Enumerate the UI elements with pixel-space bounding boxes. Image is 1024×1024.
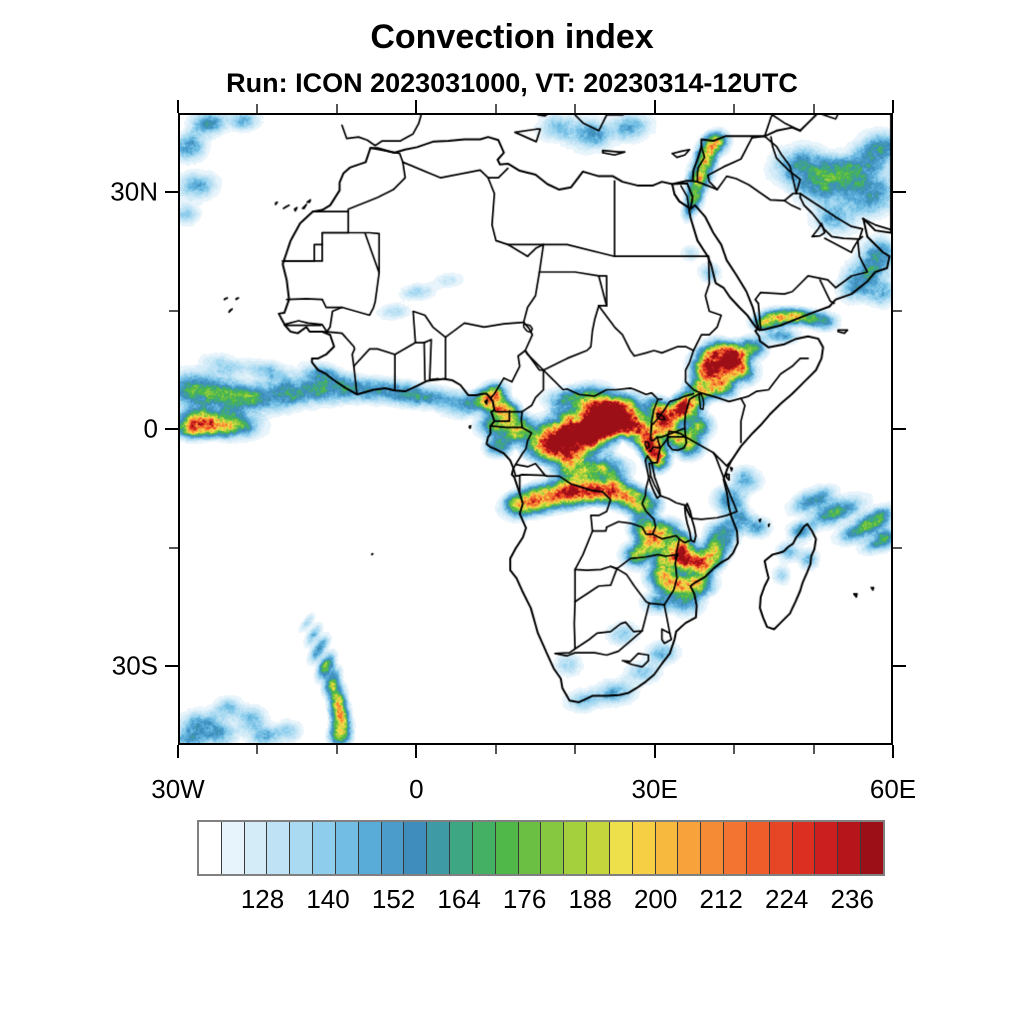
colorbar-cell: [747, 822, 770, 874]
colorbar-tick-label: 176: [503, 884, 546, 915]
x-axis-label: 30E: [632, 774, 678, 805]
convection-index-raster: [180, 115, 891, 743]
y-tick-minor: [893, 310, 902, 312]
colorbar-tick-label: 128: [241, 884, 284, 915]
colorbar-cell: [610, 822, 633, 874]
colorbar-cell: [724, 822, 747, 874]
x-tick-major: [654, 745, 656, 758]
map-plot-area: [178, 113, 893, 745]
colorbar-cell: [815, 822, 838, 874]
colorbar-cell: [793, 822, 816, 874]
colorbar-cell: [222, 822, 245, 874]
colorbar-cell: [770, 822, 793, 874]
colorbar-cell: [450, 822, 473, 874]
x-tick-minor: [256, 104, 258, 113]
x-tick-minor: [495, 745, 497, 754]
colorbar-cell: [245, 822, 268, 874]
colorbar-cell: [313, 822, 336, 874]
x-tick-minor: [813, 104, 815, 113]
colorbar-cell: [564, 822, 587, 874]
x-axis-label: 0: [409, 774, 423, 805]
y-tick-major-right: [893, 191, 906, 193]
y-tick-major: [165, 191, 178, 193]
y-tick-major: [165, 428, 178, 430]
page-title: Convection index: [0, 18, 1024, 57]
colorbar-cell: [701, 822, 724, 874]
colorbar: [197, 820, 885, 876]
colorbar-cell: [359, 822, 382, 874]
y-axis-label: 30S: [60, 651, 158, 682]
colorbar-cell: [633, 822, 656, 874]
colorbar-cell: [541, 822, 564, 874]
colorbar-tick-label: 188: [568, 884, 611, 915]
y-tick-major: [165, 665, 178, 667]
x-tick-minor: [813, 745, 815, 754]
x-tick-minor: [256, 745, 258, 754]
colorbar-cell: [427, 822, 450, 874]
convection-index-figure: Convection index Run: ICON 2023031000, V…: [0, 0, 1024, 1024]
x-tick-minor: [495, 104, 497, 113]
colorbar-cells: [197, 820, 885, 876]
colorbar-tick-label: 152: [372, 884, 415, 915]
colorbar-cell: [496, 822, 519, 874]
y-tick-minor: [169, 310, 178, 312]
x-tick-minor: [733, 104, 735, 113]
colorbar-cell: [838, 822, 861, 874]
colorbar-cell: [587, 822, 610, 874]
colorbar-tick-label: 200: [634, 884, 677, 915]
colorbar-cell: [473, 822, 496, 874]
x-tick-minor: [574, 745, 576, 754]
colorbar-cell: [199, 822, 222, 874]
x-tick-major: [177, 745, 179, 758]
y-tick-minor: [169, 547, 178, 549]
colorbar-cell: [267, 822, 290, 874]
y-axis-label: 0: [60, 414, 158, 445]
x-tick-major-top: [654, 100, 656, 113]
x-tick-major-top: [177, 100, 179, 113]
x-tick-minor: [574, 104, 576, 113]
colorbar-cell: [290, 822, 313, 874]
colorbar-tick-label: 224: [765, 884, 808, 915]
y-tick-minor: [893, 547, 902, 549]
x-axis-label: 60E: [870, 774, 916, 805]
y-tick-major-right: [893, 665, 906, 667]
figure-subtitle: Run: ICON 2023031000, VT: 20230314-12UTC: [0, 68, 1024, 99]
colorbar-cell: [404, 822, 427, 874]
x-axis-label: 30W: [151, 774, 204, 805]
colorbar-tick-label: 140: [306, 884, 349, 915]
x-tick-minor: [336, 745, 338, 754]
colorbar-tick-label: 212: [699, 884, 742, 915]
x-tick-minor: [733, 745, 735, 754]
x-tick-minor: [336, 104, 338, 113]
colorbar-cell: [861, 822, 883, 874]
x-tick-major-top: [892, 100, 894, 113]
colorbar-cell: [678, 822, 701, 874]
colorbar-cell: [382, 822, 405, 874]
colorbar-tick-label: 236: [831, 884, 874, 915]
y-tick-major-right: [893, 428, 906, 430]
colorbar-cell: [336, 822, 359, 874]
x-tick-major: [415, 745, 417, 758]
colorbar-cell: [519, 822, 542, 874]
colorbar-cell: [656, 822, 679, 874]
x-tick-major-top: [415, 100, 417, 113]
y-axis-label: 30N: [60, 177, 158, 208]
colorbar-tick-label: 164: [437, 884, 480, 915]
x-tick-major: [892, 745, 894, 758]
